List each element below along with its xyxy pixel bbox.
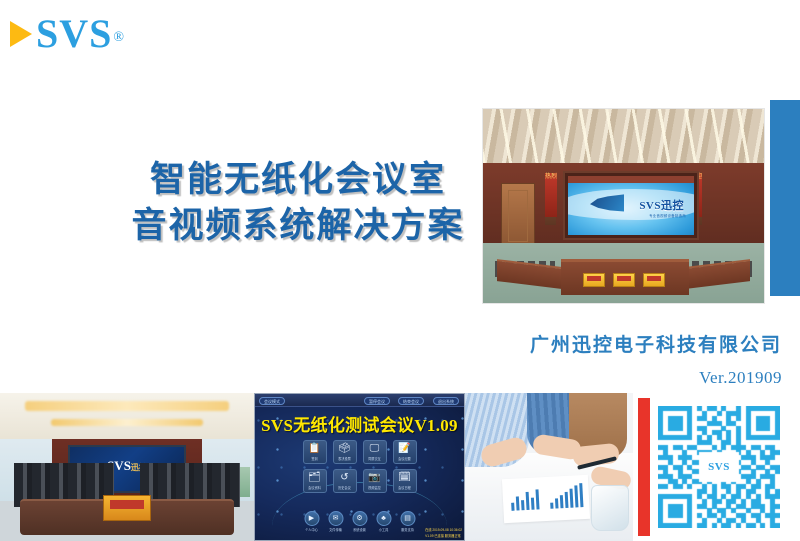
feature-tile-notes[interactable]: 📝会议纪要 [393,440,417,464]
paperless-meeting-software-screenshot: 会议模式 暂停会议 结束会议 退出系统 SVS无纸化测试会议V1.09 📋签到🗳… [254,393,465,541]
document-prop-3 [643,273,665,287]
feature-tile-screen-share[interactable]: 🖵同屏交互 [363,440,387,464]
feature-tile-folder[interactable]: 🗂会议资料 [303,469,327,493]
feature-tile-calendar[interactable]: 🗓会议日程 [393,469,417,493]
nav-item-user-center[interactable]: ▶个人中心 [304,511,319,533]
door [501,183,535,249]
feature-tile-clipboard[interactable]: 📋签到 [303,440,327,464]
tile-label: 会议纪要 [398,456,411,461]
software-title: SVS无纸化测试会议V1.09 [261,411,458,436]
screen-share-icon: 🖵 [370,444,380,454]
nav-item-support[interactable]: ▤服务支持 [400,511,415,533]
screen-logo-text: SVS迅控 [639,197,684,213]
file-transfer-icon: ✉ [328,511,343,526]
led-screen: SVS迅控 专业音视频设备制造商 [563,171,699,240]
tile-label: 表决投票 [338,456,351,461]
qr-code[interactable]: SVS [658,406,780,528]
calendar-icon: 🗓 [398,473,411,483]
chart-document [502,475,590,523]
nav-label: 服务支持 [401,527,414,532]
status-line: 在线 2019-09-08 10:36:02 [425,527,462,532]
feature-tile-ballot[interactable]: 🗳表决投票 [333,440,357,464]
ceiling [483,109,764,165]
feature-tile-camera[interactable]: 📷视频监控 [363,469,387,493]
tile-label: 同屏交互 [368,456,381,461]
notes-icon: 📝 [398,444,410,454]
conference-room-render-image: 热烈 欢迎 SVS迅控 专业音视频设备制造商 [482,108,765,304]
nav-item-tools[interactable]: ♣小工具 [376,511,391,533]
gear-icon: ⚙ [352,511,367,526]
tile-label: 视频监控 [368,485,381,490]
status-line: V1.09 已连接 服务器正常 [425,533,462,538]
bar-chart-graphic-2 [549,483,583,509]
topbar-chip-0[interactable]: 会议模式 [259,397,285,405]
status-bar: 在线 2019-09-08 10:36:02V1.09 已连接 服务器正常 [425,527,462,538]
nav-item-gear[interactable]: ⚙系统设置 [352,511,367,533]
history-icon: ↺ [340,473,348,483]
ballot-icon: 🗳 [338,444,351,454]
tile-label: 签到 [311,456,317,461]
company-name: 广州迅控电子科技有限公司 [530,330,782,357]
tile-label: 会议资料 [308,485,321,490]
topbar-chip-1[interactable]: 暂停会议 [364,397,390,405]
water-glass [591,485,629,531]
business-discussion-photo [465,393,633,541]
logo-wordmark: SVS® [36,14,124,54]
screen-subtitle-text: 专业音视频设备制造商 [649,213,686,218]
svs-logo: SVS® [10,14,124,54]
screen-header-banner [568,176,694,183]
camera-icon: 📷 [368,473,380,483]
folder-icon: 🗂 [308,473,321,483]
play-triangle-icon [10,21,32,47]
page-title: 智能无纸化会议室 音视频系统解决方案 [108,158,488,249]
clipboard-icon: 📋 [308,444,320,454]
tools-icon: ♣ [376,511,391,526]
nav-item-file-transfer[interactable]: ✉文件传输 [328,511,343,533]
qr-code-panel: SVS [633,393,800,541]
banner-left: 热烈 [545,173,557,217]
red-accent-bar [638,398,650,536]
title-line-1: 智能无纸化会议室 [108,158,488,204]
logo-text: SVS [36,11,112,56]
nav-label: 文件传输 [329,527,342,532]
title-line-2: 音视频系统解决方案 [108,204,488,250]
version-label: Ver.201909 [530,368,782,388]
presentation-cover-slide: SVS® 智能无纸化会议室 音视频系统解决方案 热烈 欢迎 SVS迅控 专业音视… [0,0,800,541]
meeting-room-photo: SVS迅控 [0,393,254,541]
topbar-chip-2[interactable]: 结束会议 [398,397,424,405]
document-prop-1 [583,273,605,287]
user-center-icon: ▶ [304,511,319,526]
document-prop-2 [613,273,635,287]
feature-tile-history[interactable]: ↺历史会议 [333,469,357,493]
right-accent-bar [770,100,800,296]
registered-trademark-icon: ® [113,30,124,45]
document-prop [103,495,151,521]
feature-tile-grid: 📋签到🗳表决投票🖵同屏交互📝会议纪要🗂会议资料↺历史会议📷视频监控🗓会议日程 [303,440,417,493]
company-block: 广州迅控电子科技有限公司 Ver.201909 [530,330,782,388]
nav-label: 小工具 [379,527,389,532]
qr-center-logo: SVS [701,454,737,480]
support-icon: ▤ [400,511,415,526]
nav-label: 个人中心 [305,527,318,532]
bottom-image-strip: SVS迅控 会议模式 暂停会议 结束会议 退出系统 SVS无纸化测试会议V1.0… [0,393,800,541]
bar-chart-graphic-1 [510,487,539,510]
bottom-nav-bar: ▶个人中心✉文件传输⚙系统设置♣小工具▤服务支持 [304,511,415,533]
nav-label: 系统设置 [353,527,366,532]
topbar-chip-3[interactable]: 退出系统 [433,397,459,405]
tile-label: 会议日程 [398,485,411,490]
tile-label: 历史会议 [338,485,351,490]
